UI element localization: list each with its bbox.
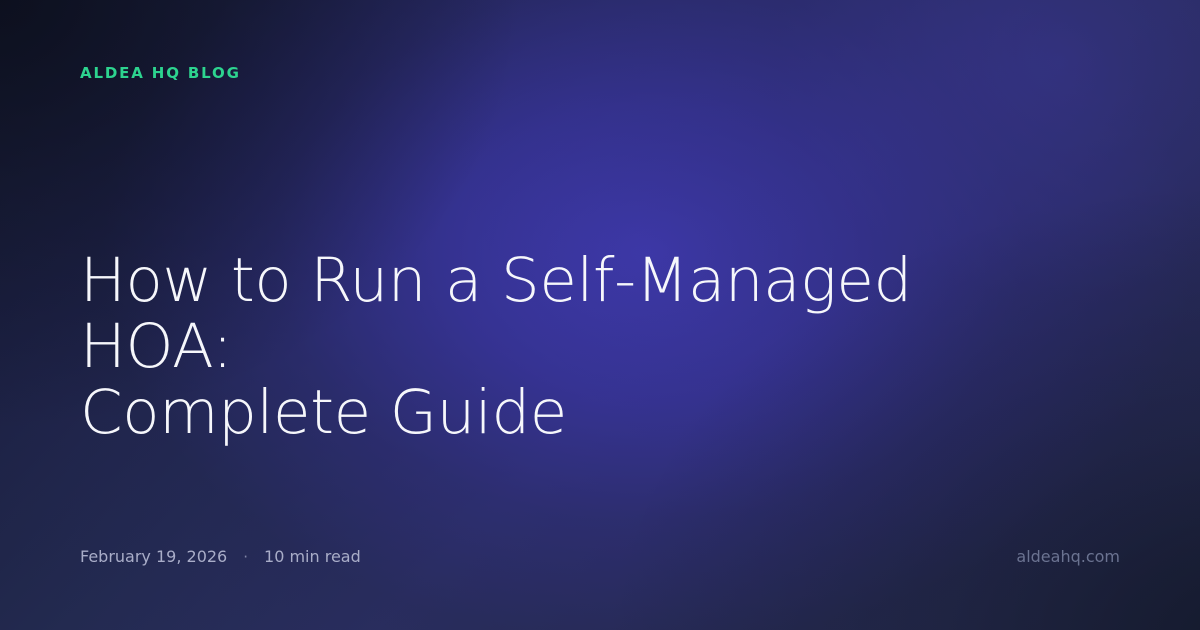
publish-date: February 19, 2026 bbox=[80, 546, 227, 568]
site-domain: aldeahq.com bbox=[1016, 546, 1120, 568]
article-meta: February 19, 2026 · 10 min read bbox=[80, 546, 361, 568]
card-content: ALDEA HQ BLOG How to Run a Self-Managed … bbox=[0, 0, 1200, 630]
page-title-line-1: How to Run a Self-Managed HOA: bbox=[80, 245, 912, 382]
brand-eyebrow: ALDEA HQ BLOG bbox=[80, 62, 241, 84]
page-title-line-2: Complete Guide bbox=[80, 377, 567, 448]
read-time: 10 min read bbox=[264, 546, 361, 568]
page-title: How to Run a Self-Managed HOA: Complete … bbox=[80, 248, 940, 446]
meta-separator: · bbox=[243, 546, 248, 568]
blog-og-card: ALDEA HQ BLOG How to Run a Self-Managed … bbox=[0, 0, 1200, 630]
